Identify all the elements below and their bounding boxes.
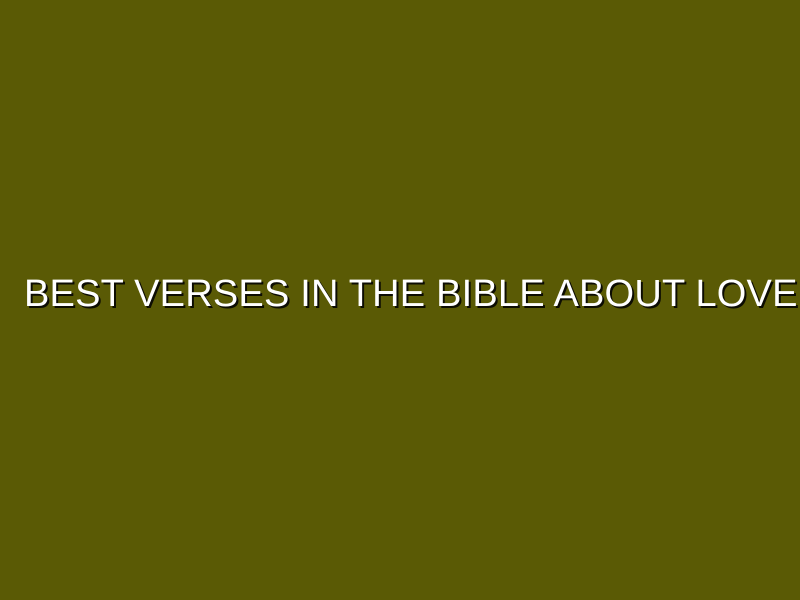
- headline-container: BEST VERSES IN THE BIBLE ABOUT LOVE: [0, 273, 800, 316]
- banner: BEST VERSES IN THE BIBLE ABOUT LOVE: [0, 0, 800, 600]
- page-title: BEST VERSES IN THE BIBLE ABOUT LOVE: [24, 273, 798, 316]
